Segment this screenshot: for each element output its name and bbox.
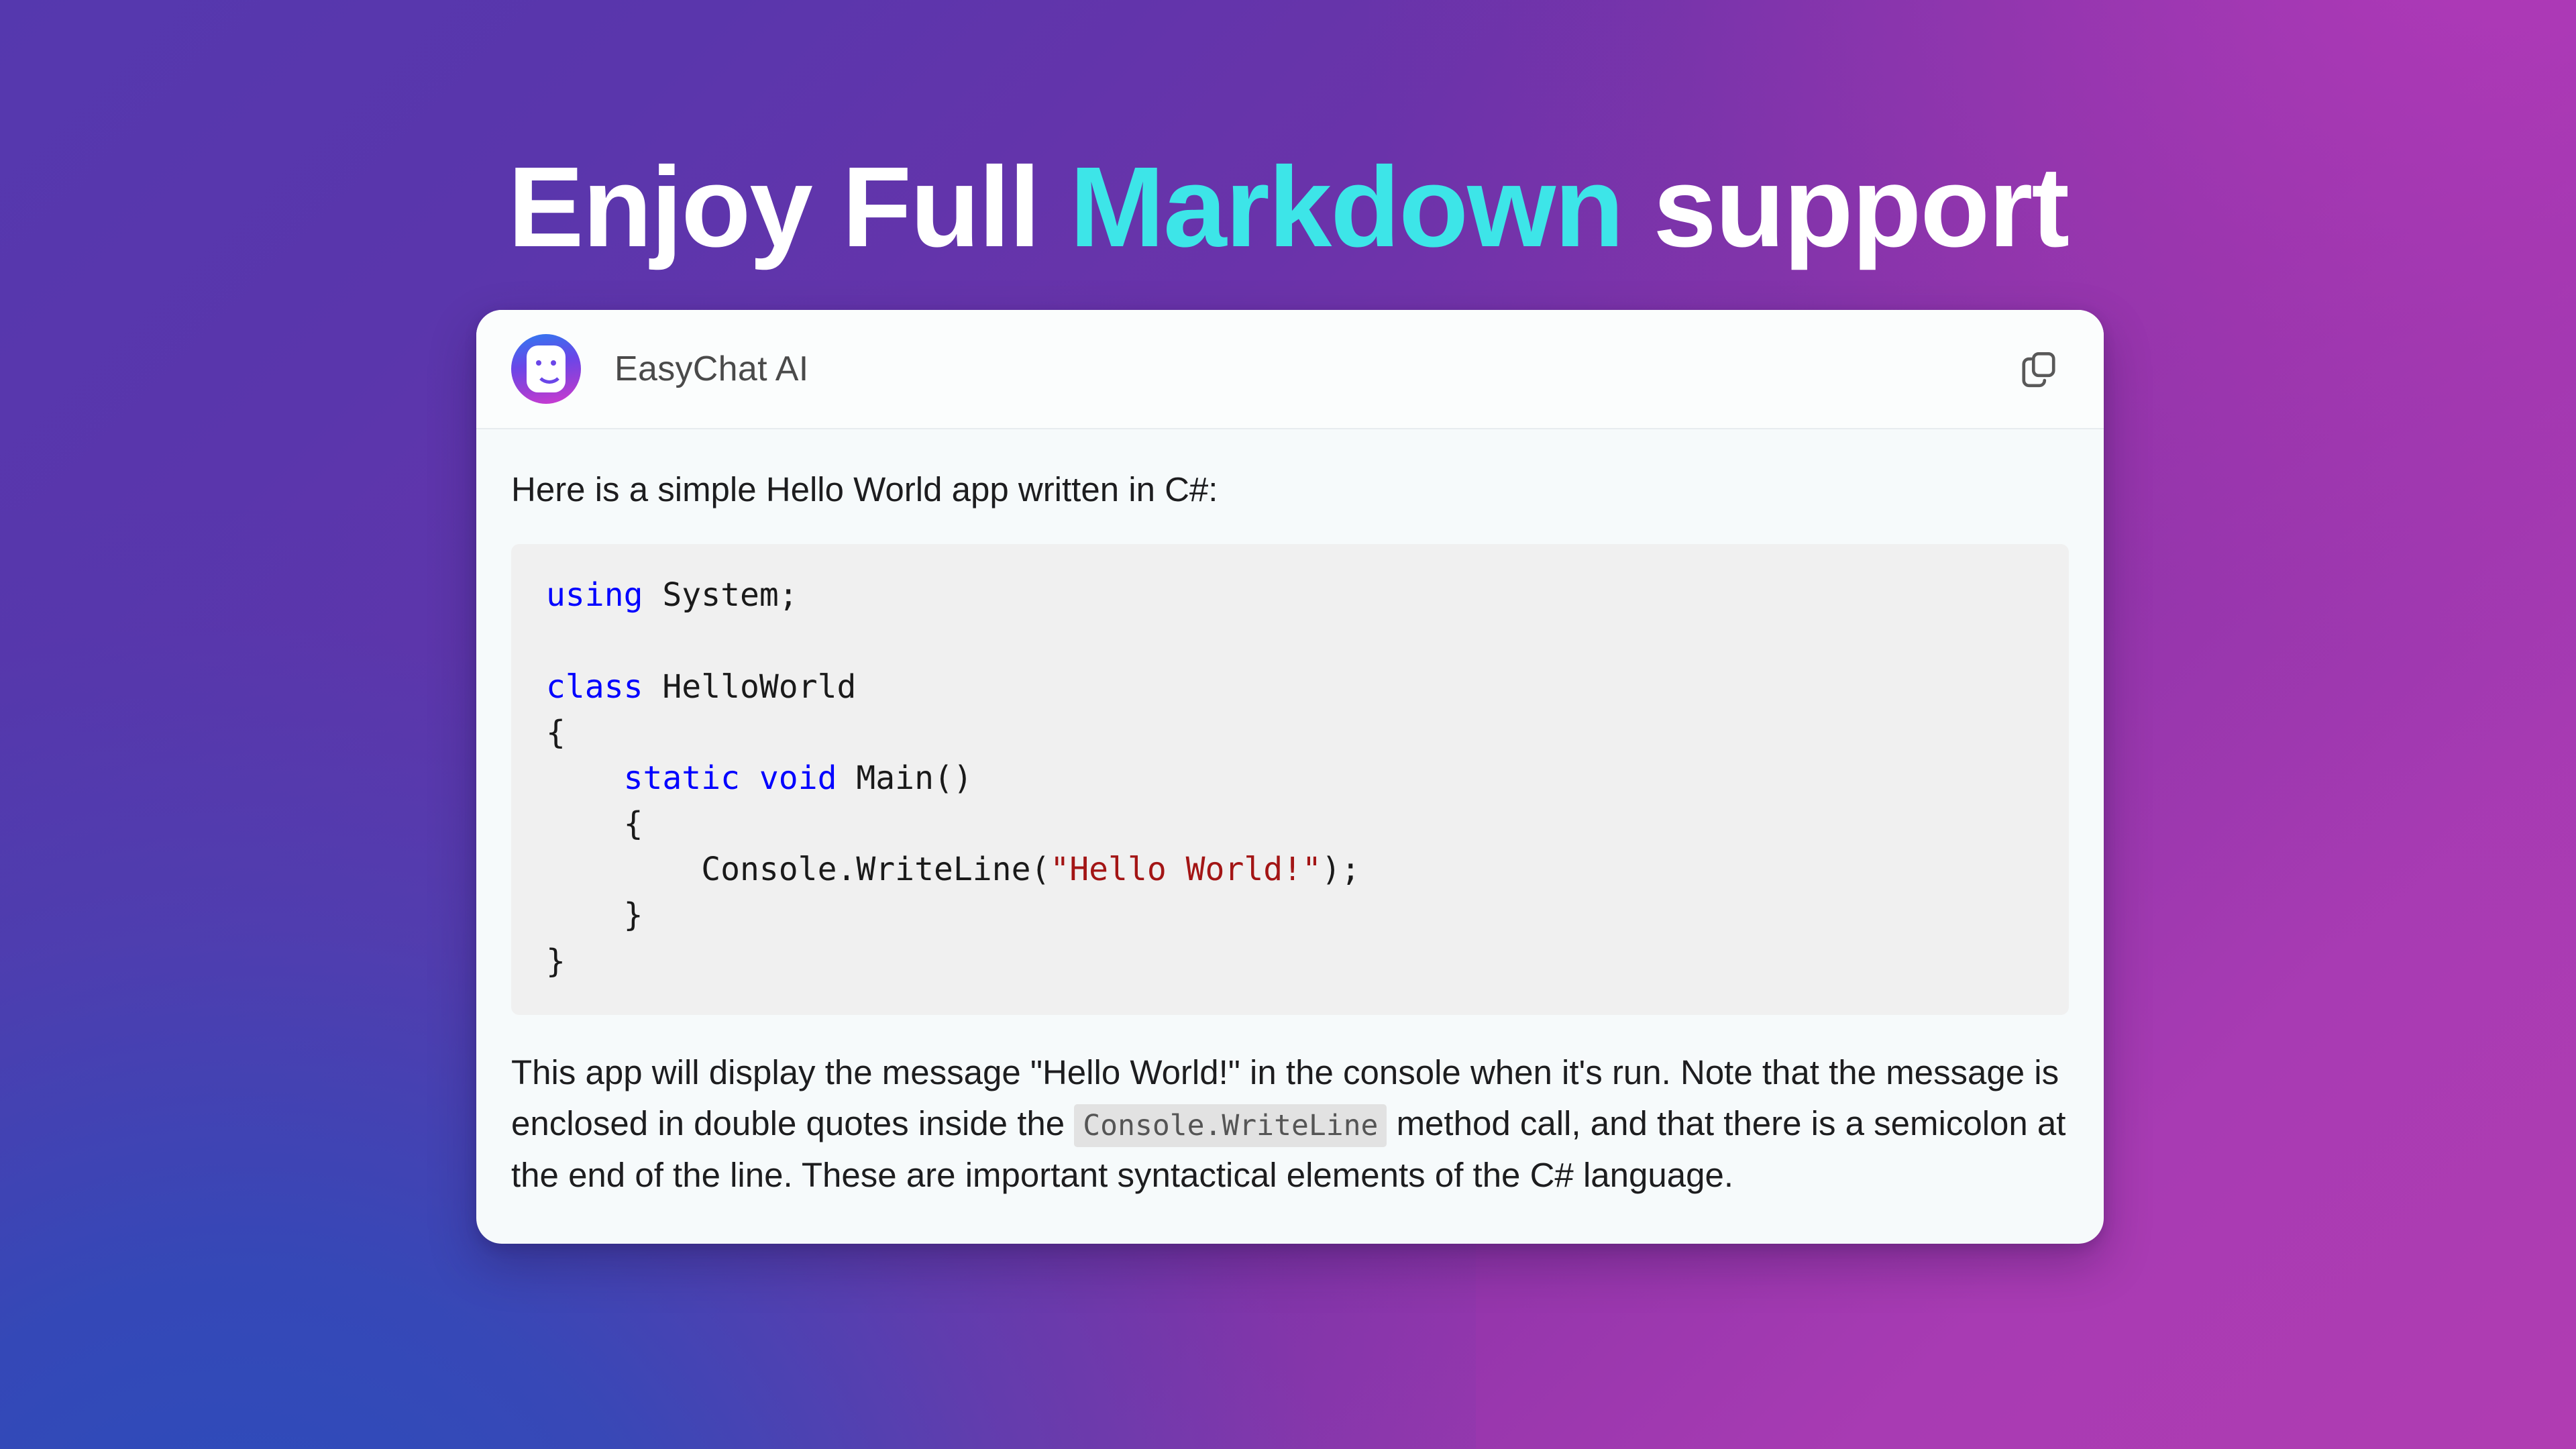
- chat-message-card: EasyChat AI Here is a simple Hello World…: [476, 310, 2104, 1244]
- code-token: System;: [643, 576, 798, 614]
- code-token: Main(): [837, 759, 972, 797]
- smiley-face-avatar-icon: [511, 334, 581, 404]
- chat-card-body: Here is a simple Hello World app written…: [476, 429, 2104, 1244]
- code-token: {: [546, 805, 643, 843]
- code-token: );: [1322, 851, 1360, 888]
- code-token: }: [546, 896, 643, 934]
- avatar-mouth: [535, 370, 563, 384]
- avatar-face: [527, 345, 566, 392]
- code-token: "Hello World!": [1050, 851, 1322, 888]
- chat-card-header: EasyChat AI: [476, 310, 2104, 429]
- code-token: }: [546, 943, 566, 980]
- page-title: Enjoy Full Markdown support: [0, 146, 2576, 270]
- code-token: [546, 759, 624, 797]
- code-token: Console.WriteLine(: [546, 851, 1050, 888]
- outro-paragraph: This app will display the message "Hello…: [511, 1047, 2069, 1201]
- intro-paragraph: Here is a simple Hello World app written…: [511, 467, 2069, 512]
- code-block[interactable]: using System; class HelloWorld { static …: [511, 544, 2069, 1014]
- copy-icon[interactable]: [2012, 343, 2065, 395]
- code-token: class: [546, 668, 643, 706]
- brand-name-label: EasyChat AI: [614, 349, 808, 389]
- avatar-eye-left: [536, 360, 541, 366]
- code-token: HelloWorld: [643, 668, 857, 706]
- code-token: {: [546, 714, 566, 751]
- headline-accent-word: Markdown: [1069, 144, 1623, 271]
- headline-text-after: support: [1623, 144, 2068, 271]
- avatar-eye-right: [551, 360, 556, 366]
- code-token: using: [546, 576, 643, 614]
- headline-text-before: Enjoy Full: [508, 144, 1069, 271]
- code-token: [740, 759, 759, 797]
- inline-code-chip: Console.WriteLine: [1074, 1104, 1387, 1147]
- promo-banner: Enjoy Full Markdown support EasyChat AI: [0, 0, 2576, 1449]
- code-token: static: [624, 759, 740, 797]
- code-token: void: [759, 759, 837, 797]
